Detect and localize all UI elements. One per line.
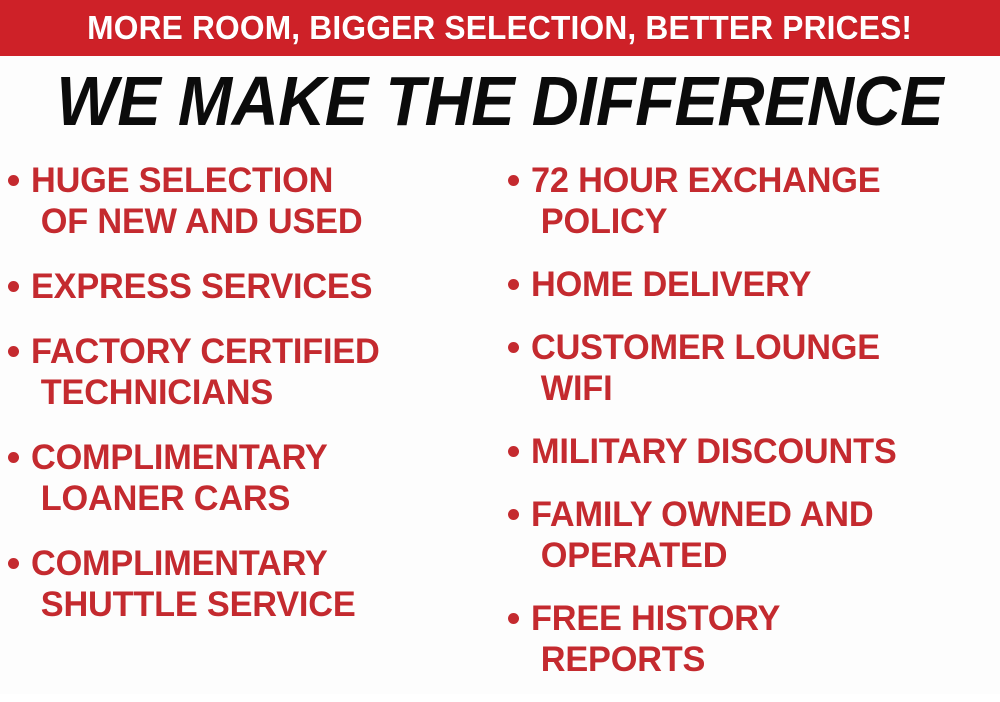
benefit-item-text: HOME DELIVERY <box>531 264 991 305</box>
main-headline-text: WE MAKE THE DIFFERENCE <box>57 64 944 138</box>
bullet-dot-icon <box>508 509 519 520</box>
bullet-dot-icon <box>508 613 519 624</box>
benefit-item-text: HUGE SELECTIONOF NEW AND USED <box>31 160 485 242</box>
benefit-item: COMPLIMENTARYSHUTTLE SERVICE <box>8 543 494 625</box>
top-banner: MORE ROOM, BIGGER SELECTION, BETTER PRIC… <box>0 0 1000 56</box>
benefit-item: FAMILY OWNED ANDOPERATED <box>508 494 1000 576</box>
benefit-item-text: MILITARY DISCOUNTS <box>531 431 991 472</box>
benefit-item-line: EXPRESS SERVICES <box>31 266 485 307</box>
benefit-item-line: REPORTS <box>531 639 991 680</box>
benefits-column-right: 72 HOUR EXCHANGEPOLICYHOME DELIVERYCUSTO… <box>508 160 1000 702</box>
benefit-item-text: EXPRESS SERVICES <box>31 266 485 307</box>
advertisement-poster: MORE ROOM, BIGGER SELECTION, BETTER PRIC… <box>0 0 1000 694</box>
benefit-item-line: OF NEW AND USED <box>31 201 485 242</box>
benefit-item-line: HOME DELIVERY <box>531 264 991 305</box>
bullet-dot-icon <box>508 279 519 290</box>
benefit-item-line: POLICY <box>531 201 991 242</box>
benefit-item: MILITARY DISCOUNTS <box>508 431 1000 472</box>
benefit-item-text: COMPLIMENTARYSHUTTLE SERVICE <box>31 543 485 625</box>
benefit-item-line: HUGE SELECTION <box>31 160 485 201</box>
benefit-item: 72 HOUR EXCHANGEPOLICY <box>508 160 1000 242</box>
benefit-item-line: CUSTOMER LOUNGE <box>531 327 991 368</box>
benefit-item-line: SHUTTLE SERVICE <box>31 584 485 625</box>
benefit-item-line: FREE HISTORY <box>531 598 991 639</box>
benefit-item: HOME DELIVERY <box>508 264 1000 305</box>
bullet-dot-icon <box>508 446 519 457</box>
bullet-dot-icon <box>8 175 19 186</box>
benefit-item: HUGE SELECTIONOF NEW AND USED <box>8 160 494 242</box>
benefit-item: COMPLIMENTARYLOANER CARS <box>8 437 494 519</box>
benefit-item-line: LOANER CARS <box>31 478 485 519</box>
benefit-item-line: WIFI <box>531 368 991 409</box>
benefit-item-line: COMPLIMENTARY <box>31 543 485 584</box>
bullet-dot-icon <box>8 452 19 463</box>
benefit-item-text: FACTORY CERTIFIEDTECHNICIANS <box>31 331 485 413</box>
banner-headline-text: MORE ROOM, BIGGER SELECTION, BETTER PRIC… <box>88 11 913 45</box>
benefit-item-line: TECHNICIANS <box>31 372 485 413</box>
benefit-item-line: FACTORY CERTIFIED <box>31 331 485 372</box>
benefit-item: FACTORY CERTIFIEDTECHNICIANS <box>8 331 494 413</box>
bullet-dot-icon <box>508 175 519 186</box>
bullet-dot-icon <box>8 281 19 292</box>
benefit-item-text: FREE HISTORYREPORTS <box>531 598 991 680</box>
benefits-columns: HUGE SELECTIONOF NEW AND USEDEXPRESS SER… <box>0 160 1000 694</box>
benefits-column-left: HUGE SELECTIONOF NEW AND USEDEXPRESS SER… <box>8 160 494 649</box>
bullet-dot-icon <box>8 346 19 357</box>
benefit-item-line: FAMILY OWNED AND <box>531 494 991 535</box>
benefit-item-text: CUSTOMER LOUNGEWIFI <box>531 327 991 409</box>
bullet-dot-icon <box>8 558 19 569</box>
benefit-item: FREE HISTORYREPORTS <box>508 598 1000 680</box>
benefit-item: EXPRESS SERVICES <box>8 266 494 307</box>
main-headline: WE MAKE THE DIFFERENCE <box>0 64 1000 138</box>
benefit-item-text: 72 HOUR EXCHANGEPOLICY <box>531 160 991 242</box>
benefit-item-line: 72 HOUR EXCHANGE <box>531 160 991 201</box>
benefit-item-line: OPERATED <box>531 535 991 576</box>
benefit-item-text: COMPLIMENTARYLOANER CARS <box>31 437 485 519</box>
benefit-item-text: FAMILY OWNED ANDOPERATED <box>531 494 991 576</box>
benefit-item: CUSTOMER LOUNGEWIFI <box>508 327 1000 409</box>
bullet-dot-icon <box>508 342 519 353</box>
benefit-item-line: COMPLIMENTARY <box>31 437 485 478</box>
benefit-item-line: MILITARY DISCOUNTS <box>531 431 991 472</box>
